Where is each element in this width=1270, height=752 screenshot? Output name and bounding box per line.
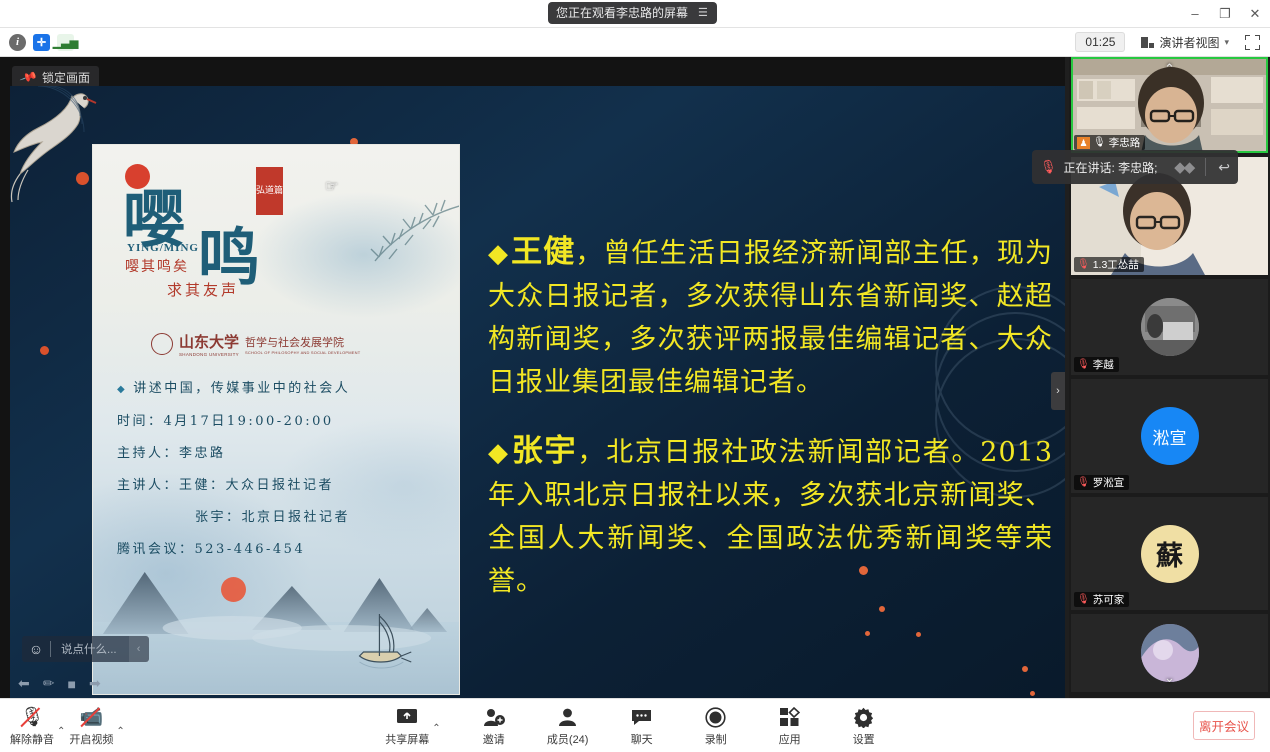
view-mode-selector[interactable]: 演讲者视图 ▾ <box>1135 32 1235 53</box>
poster-seal: 弘道篇 <box>256 167 283 215</box>
university-name: 山东大学 <box>179 331 239 352</box>
mic-muted-icon: 🎙 <box>1077 259 1090 270</box>
slide-paragraph: ◆张宇，北京日报社政法新闻部记者。2013年入职北京日报社以来，多次获北京新闻奖… <box>488 430 1053 603</box>
scroll-down-icon[interactable]: ⌄ <box>1164 670 1175 686</box>
event-poster: 嘤 鸣 YING/MING 嘤其鸣矣 求其友声 弘道篇 <box>92 144 460 695</box>
chat-bubble-icon <box>631 705 652 729</box>
meeting-toolbar: 🎙 解除静音 ⌃ 📹 开启视频 ⌃ 共享屏幕 ⌃ <box>0 698 1270 752</box>
participant-tile[interactable]: ⌃ ♟ 🎙 李忠路 <box>1071 57 1268 153</box>
university-name-en: SHANDONG UNIVERSITY <box>179 352 239 357</box>
redo-arrow-icon[interactable]: ➡ <box>89 675 101 692</box>
participant-tile[interactable]: 🎙 李越 <box>1071 279 1268 375</box>
participant-name: 1.3工怂喆 <box>1093 257 1139 272</box>
minimize-icon: – <box>1191 6 1198 21</box>
slide-body-text: ◆王健，曾任生活日报经济新闻部主任，现为大众日报记者，多次获得山东省新闻奖、赵超… <box>488 231 1053 629</box>
status-right-group: 01:25 演讲者视图 ▾ <box>1075 32 1270 53</box>
lock-screen-label: 锁定画面 <box>42 69 90 86</box>
presentation-slide: 嘤 鸣 YING/MING 嘤其鸣矣 求其友声 弘道篇 <box>10 86 1065 698</box>
participant-name: 李忠路 <box>1109 135 1141 150</box>
record-button[interactable]: 录制 <box>693 702 739 750</box>
panel-toggle-button[interactable]: › <box>1051 372 1065 410</box>
avatar: 蘇 <box>1141 525 1199 583</box>
status-icon-group: i ✛ ▁▃▅ <box>0 34 74 51</box>
avatar-initials: 淞宣 <box>1153 424 1187 449</box>
pen-icon[interactable]: ✏ <box>43 675 55 692</box>
undo-arrow-icon[interactable]: ⬅ <box>18 675 30 692</box>
participant-name: 苏可家 <box>1093 592 1125 607</box>
crane-decoration <box>10 86 100 698</box>
maximize-icon: ❐ <box>1219 6 1231 22</box>
poster-line-text: 讲述中国，传媒事业中的社会人 <box>133 381 350 396</box>
settings-label: 设置 <box>853 731 875 747</box>
mic-muted-icon: 🎙 <box>1040 159 1057 175</box>
chevron-left-icon[interactable]: ‹ <box>129 636 149 662</box>
mic-muted-icon: 🎙 <box>1077 477 1090 488</box>
avatar-initials: 蘇 <box>1156 534 1183 573</box>
invite-user-icon <box>483 705 505 729</box>
university-logo: 山东大学 SHANDONG UNIVERSITY 哲学与社会发展学院 SCHOO… <box>151 331 360 357</box>
participant-tile[interactable]: ⌄ <box>1071 614 1268 692</box>
record-icon <box>705 705 726 729</box>
speaking-toast[interactable]: 🎙 正在讲话: 李忠路; ◆◆ ↩ <box>1032 150 1238 184</box>
university-seal-icon <box>151 333 173 355</box>
decor-dot <box>865 631 870 636</box>
slide-paragraph-content: ◆张宇，北京日报社政法新闻部记者。2013年入职北京日报社以来，多次获北京新闻奖… <box>488 430 1053 603</box>
network-bars-icon[interactable]: ▁▃▅ <box>57 34 74 51</box>
annotation-toolbar: ⬅ ✏ ■ ➡ <box>18 675 101 692</box>
pine-branch-icon <box>313 189 460 281</box>
pointer-cursor-icon: ☞ <box>325 177 338 195</box>
speaking-toast-text: 正在讲话: 李忠路; <box>1064 159 1158 176</box>
sharing-notice-pill[interactable]: 您正在观看李忠路的屏幕 ☰ <box>548 2 717 24</box>
mic-muted-icon: 🎙 <box>1077 594 1090 605</box>
invite-button[interactable]: 邀请 <box>471 702 517 750</box>
chat-label: 聊天 <box>631 731 653 747</box>
participant-name-chip: ♟ 🎙 李忠路 <box>1074 135 1145 150</box>
speaker-name: 张宇 <box>512 433 578 469</box>
scroll-up-icon[interactable]: ⌃ <box>1164 61 1175 77</box>
poster-subtitle-1: 嘤其鸣矣 <box>125 256 189 276</box>
participant-tile[interactable]: 蘇 🎙 苏可家 <box>1071 497 1268 610</box>
minimize-button[interactable]: – <box>1180 0 1210 28</box>
poster-line: 时间：4月17日19:00-20:00 <box>117 406 457 438</box>
avatar: 淞宣 <box>1141 407 1199 465</box>
square-icon[interactable]: ■ <box>67 676 75 692</box>
participant-name-chip: 🎙 李越 <box>1074 357 1119 372</box>
school-name-en: SCHOOL OF PHILOSOPHY AND SOCIAL DEVELOPM… <box>245 350 360 355</box>
view-mode-label: 演讲者视图 <box>1159 34 1219 51</box>
participant-name-chip: 🎙 罗淞宣 <box>1074 475 1129 490</box>
mic-muted-icon: 🎙 <box>1077 359 1090 370</box>
mic-on-icon: 🎙 <box>1093 137 1106 148</box>
poster-line: ◆讲述中国，传媒事业中的社会人 <box>117 373 457 406</box>
share-options-caret[interactable]: ⌃ <box>432 723 440 734</box>
leave-meeting-label: 离开会议 <box>1199 716 1249 735</box>
participant-name: 罗淞宣 <box>1093 475 1125 490</box>
fullscreen-icon[interactable] <box>1245 35 1260 50</box>
close-button[interactable]: ✕ <box>1240 0 1270 28</box>
slide-paragraph-content: ◆王健，曾任生活日报经济新闻部主任，现为大众日报记者，多次获得山东省新闻奖、赵超… <box>488 231 1053 404</box>
diamond-bullet-icon: ◆ <box>117 384 127 395</box>
apps-grid-icon <box>779 705 800 729</box>
leave-meeting-button[interactable]: 离开会议 <box>1193 711 1255 740</box>
avatar-photo <box>1141 298 1199 356</box>
annotation-chat-bar[interactable]: ☺ 说点什么... ‹ <box>22 636 149 662</box>
apps-label: 应用 <box>779 731 801 747</box>
divider <box>1205 158 1206 176</box>
title-bar: 您正在观看李忠路的屏幕 ☰ – ❐ ✕ <box>0 0 1270 28</box>
poster-detail-lines: ◆讲述中国，传媒事业中的社会人 时间：4月17日19:00-20:00 主持人：… <box>117 373 457 566</box>
apps-button[interactable]: 应用 <box>767 702 813 750</box>
status-bar: i ✛ ▁▃▅ 01:25 演讲者视图 ▾ <box>0 28 1270 57</box>
poster-line: 张宇：北京日报社记者 <box>117 502 457 534</box>
participants-icon <box>557 705 578 729</box>
poster-landscape-sun <box>221 577 246 602</box>
shared-screen-stage[interactable]: 📌 锁定画面 <box>0 57 1065 698</box>
participant-name-chip: 🎙 1.3工怂喆 <box>1074 257 1144 272</box>
close-icon: ✕ <box>1250 6 1261 22</box>
participant-name: 李越 <box>1093 357 1114 372</box>
record-label: 录制 <box>705 731 727 747</box>
lock-screen-button[interactable]: 📌 锁定画面 <box>12 66 99 88</box>
poster-line: 主讲人：王健：大众日报社记者 <box>117 470 457 502</box>
shield-icon[interactable]: ✛ <box>33 34 50 51</box>
poster-line: 主持人：李忠路 <box>117 438 457 470</box>
participant-tile[interactable]: 淞宣 🎙 罗淞宣 <box>1071 379 1268 493</box>
share-screen-button[interactable]: 共享屏幕 <box>383 702 431 750</box>
share-screen-label: 共享屏幕 <box>385 731 429 747</box>
smiley-icon[interactable]: ☺ <box>22 641 50 657</box>
diamond-bullet-icon: ◆ <box>488 438 510 468</box>
toolbar-center-group: 共享屏幕 ⌃ 邀请 成员(24) 聊天 <box>0 699 1270 752</box>
speaker-name: 王健 <box>511 234 575 270</box>
participants-button[interactable]: 成员(24) <box>545 702 591 750</box>
decor-dot <box>1022 666 1028 672</box>
info-icon[interactable]: i <box>9 34 26 51</box>
meeting-window: 您正在观看李忠路的屏幕 ☰ – ❐ ✕ i ✛ ▁▃▅ 01:25 演讲者视图 … <box>0 0 1270 752</box>
pin-icon: 📌 <box>19 67 38 86</box>
poster-pinyin: YING/MING <box>127 242 199 254</box>
participants-label: 成员(24) <box>547 731 589 747</box>
chevron-down-icon: ▾ <box>1224 37 1229 48</box>
gear-icon <box>853 705 874 729</box>
say-something-input[interactable]: 说点什么... <box>51 641 129 657</box>
share-screen-icon <box>396 705 418 729</box>
diamond-bullet-icon: ◆ <box>488 239 509 269</box>
sound-wave-icon: ◆◆ <box>1174 158 1193 176</box>
chat-button[interactable]: 聊天 <box>619 702 665 750</box>
decor-dot <box>40 346 49 355</box>
decor-dot <box>916 632 921 637</box>
slide-paragraph: ◆王健，曾任生活日报经济新闻部主任，现为大众日报记者，多次获得山东省新闻奖、赵超… <box>488 231 1053 404</box>
speaker-view-icon <box>1141 37 1154 48</box>
decor-dot <box>1030 691 1035 696</box>
school-name: 哲学与社会发展学院 <box>245 334 360 350</box>
poster-subtitle-2: 求其友声 <box>167 279 239 300</box>
settings-button[interactable]: 设置 <box>841 702 887 750</box>
reply-arrow-icon[interactable]: ↩ <box>1218 159 1230 176</box>
ink-landscape-illustration <box>93 552 459 694</box>
list-menu-icon[interactable]: ☰ <box>698 2 709 24</box>
decor-dot <box>76 172 89 185</box>
invite-label: 邀请 <box>483 731 505 747</box>
host-badge-icon: ♟ <box>1077 137 1090 149</box>
participant-name-chip: 🎙 苏可家 <box>1074 592 1129 607</box>
maximize-button[interactable]: ❐ <box>1210 0 1240 28</box>
meeting-timer: 01:25 <box>1075 32 1125 52</box>
sharing-notice-text: 您正在观看李忠路的屏幕 <box>556 2 688 24</box>
avatar <box>1141 298 1199 356</box>
